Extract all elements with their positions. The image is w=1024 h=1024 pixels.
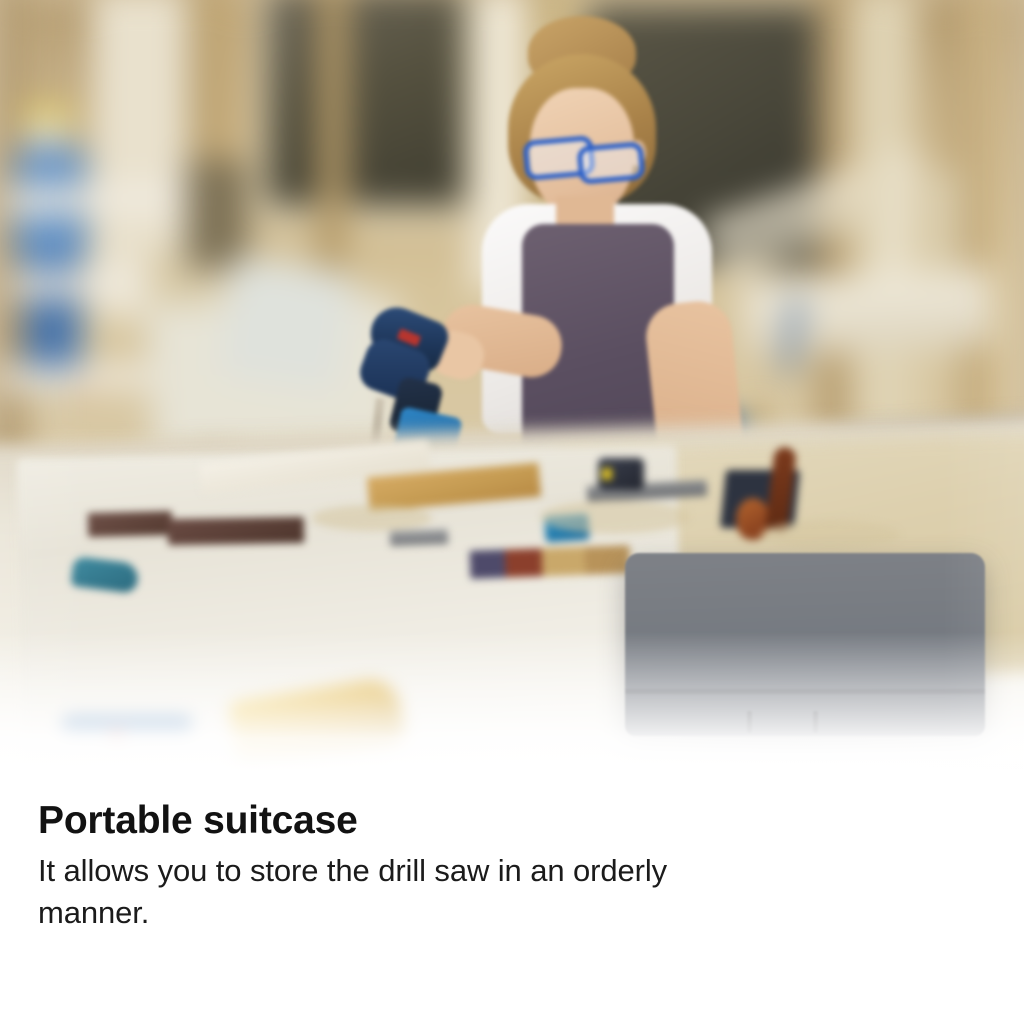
product-photo	[0, 0, 1024, 772]
photo-content	[0, 0, 1024, 772]
product-feature-card: Portable suitcase It allows you to store…	[0, 0, 1024, 1024]
caption-block: Portable suitcase It allows you to store…	[0, 772, 1024, 1024]
caption-body: It allows you to store the drill saw in …	[38, 850, 698, 934]
caption-title: Portable suitcase	[38, 798, 986, 844]
photo-bottom-fade	[0, 632, 1024, 772]
